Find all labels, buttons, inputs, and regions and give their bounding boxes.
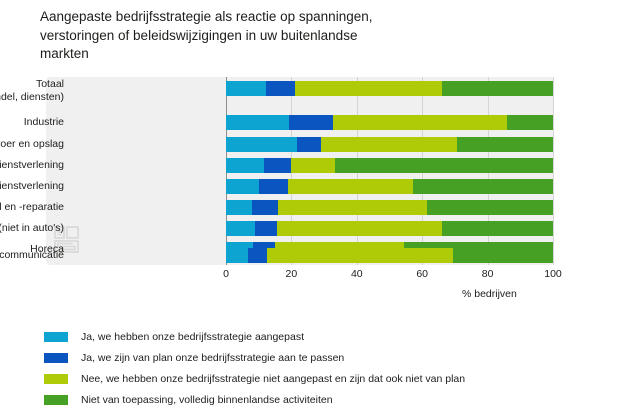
x-axis-tick-label: 100 bbox=[533, 268, 573, 280]
bar-segment[interactable] bbox=[288, 179, 413, 194]
bar-segment[interactable] bbox=[321, 137, 457, 152]
bar-segment[interactable] bbox=[427, 200, 553, 215]
legend-item[interactable]: Nee, we hebben onze bedrijfsstrategie ni… bbox=[44, 368, 604, 389]
bar-segment[interactable] bbox=[226, 81, 266, 96]
legend-item[interactable]: Ja, we zijn van plan onze bedrijfsstrate… bbox=[44, 347, 604, 368]
bar-segment[interactable] bbox=[453, 248, 553, 263]
bar-segment[interactable] bbox=[442, 221, 553, 236]
bar-segment[interactable] bbox=[226, 115, 289, 130]
bar-segment[interactable] bbox=[264, 158, 291, 173]
category-label: Autohandel en -reparatie bbox=[0, 201, 64, 214]
legend-item[interactable]: Ja, we hebben onze bedrijfsstrategie aan… bbox=[44, 326, 604, 347]
bar-segment[interactable] bbox=[442, 81, 553, 96]
bar-segment[interactable] bbox=[295, 81, 442, 96]
bar-segment[interactable] bbox=[226, 158, 264, 173]
bar-segment[interactable] bbox=[457, 137, 553, 152]
bar-row[interactable] bbox=[226, 115, 553, 130]
bar-row[interactable] bbox=[226, 179, 553, 194]
bar-segment[interactable] bbox=[255, 221, 277, 236]
legend-swatch bbox=[44, 353, 68, 363]
bar-segment[interactable] bbox=[267, 248, 453, 263]
bar-row[interactable] bbox=[226, 248, 553, 263]
bar-segment[interactable] bbox=[226, 179, 259, 194]
bar-segment[interactable] bbox=[277, 221, 442, 236]
legend-item[interactable]: Niet van toepassing, volledig binnenland… bbox=[44, 389, 604, 410]
bar-segment[interactable] bbox=[226, 200, 252, 215]
category-label: Zakelijke dienstverlening bbox=[0, 180, 64, 193]
category-label: Detailhandel (niet in auto's) bbox=[0, 222, 64, 235]
category-label: Overige dienstverlening bbox=[0, 159, 64, 172]
category-label: Informatie en communicatie bbox=[0, 249, 64, 262]
chart-title: Aangepaste bedrijfsstrategie als reactie… bbox=[40, 8, 470, 64]
chart-container: Aangepaste bedrijfsstrategie als reactie… bbox=[0, 0, 626, 417]
legend-swatch bbox=[44, 332, 68, 342]
category-label: Totaal (industrie, handel, diensten) bbox=[0, 78, 64, 103]
bar-segment[interactable] bbox=[297, 137, 321, 152]
legend-label: Ja, we zijn van plan onze bedrijfsstrate… bbox=[81, 352, 344, 364]
bar-row[interactable] bbox=[226, 200, 553, 215]
bar-segment[interactable] bbox=[335, 158, 553, 173]
bar-segment[interactable] bbox=[226, 248, 248, 263]
bar-segment[interactable] bbox=[226, 137, 297, 152]
x-axis-tick-label: 20 bbox=[271, 268, 311, 280]
bar-segment[interactable] bbox=[507, 115, 553, 130]
bar-segment[interactable] bbox=[289, 115, 333, 130]
bar-segment[interactable] bbox=[266, 81, 295, 96]
legend-swatch bbox=[44, 374, 68, 384]
bar-segment[interactable] bbox=[259, 179, 288, 194]
x-axis-tick-label: 40 bbox=[337, 268, 377, 280]
bar-row[interactable] bbox=[226, 137, 553, 152]
bar-segment[interactable] bbox=[333, 115, 507, 130]
bar-row[interactable] bbox=[226, 221, 553, 236]
x-axis-title: % bedrijven bbox=[462, 288, 517, 300]
bar-row[interactable] bbox=[226, 81, 553, 96]
bar-segment[interactable] bbox=[226, 221, 255, 236]
bar-segment[interactable] bbox=[248, 248, 267, 263]
x-axis-tick-label: 0 bbox=[206, 268, 246, 280]
legend-swatch bbox=[44, 395, 68, 405]
category-label: Industrie bbox=[0, 116, 64, 129]
x-axis-tick-label: 60 bbox=[402, 268, 442, 280]
bar-segment[interactable] bbox=[252, 200, 278, 215]
bar-segment[interactable] bbox=[278, 200, 427, 215]
bar-segment[interactable] bbox=[413, 179, 553, 194]
chart-legend: Ja, we hebben onze bedrijfsstrategie aan… bbox=[44, 326, 604, 410]
category-label: Vervoer en opslag bbox=[0, 138, 64, 151]
gridline bbox=[553, 77, 554, 265]
legend-label: Ja, we hebben onze bedrijfsstrategie aan… bbox=[81, 331, 304, 343]
legend-label: Nee, we hebben onze bedrijfsstrategie ni… bbox=[81, 373, 465, 385]
legend-label: Niet van toepassing, volledig binnenland… bbox=[81, 394, 333, 406]
x-axis-tick-label: 80 bbox=[468, 268, 508, 280]
bar-row[interactable] bbox=[226, 158, 553, 173]
bar-segment[interactable] bbox=[291, 158, 335, 173]
